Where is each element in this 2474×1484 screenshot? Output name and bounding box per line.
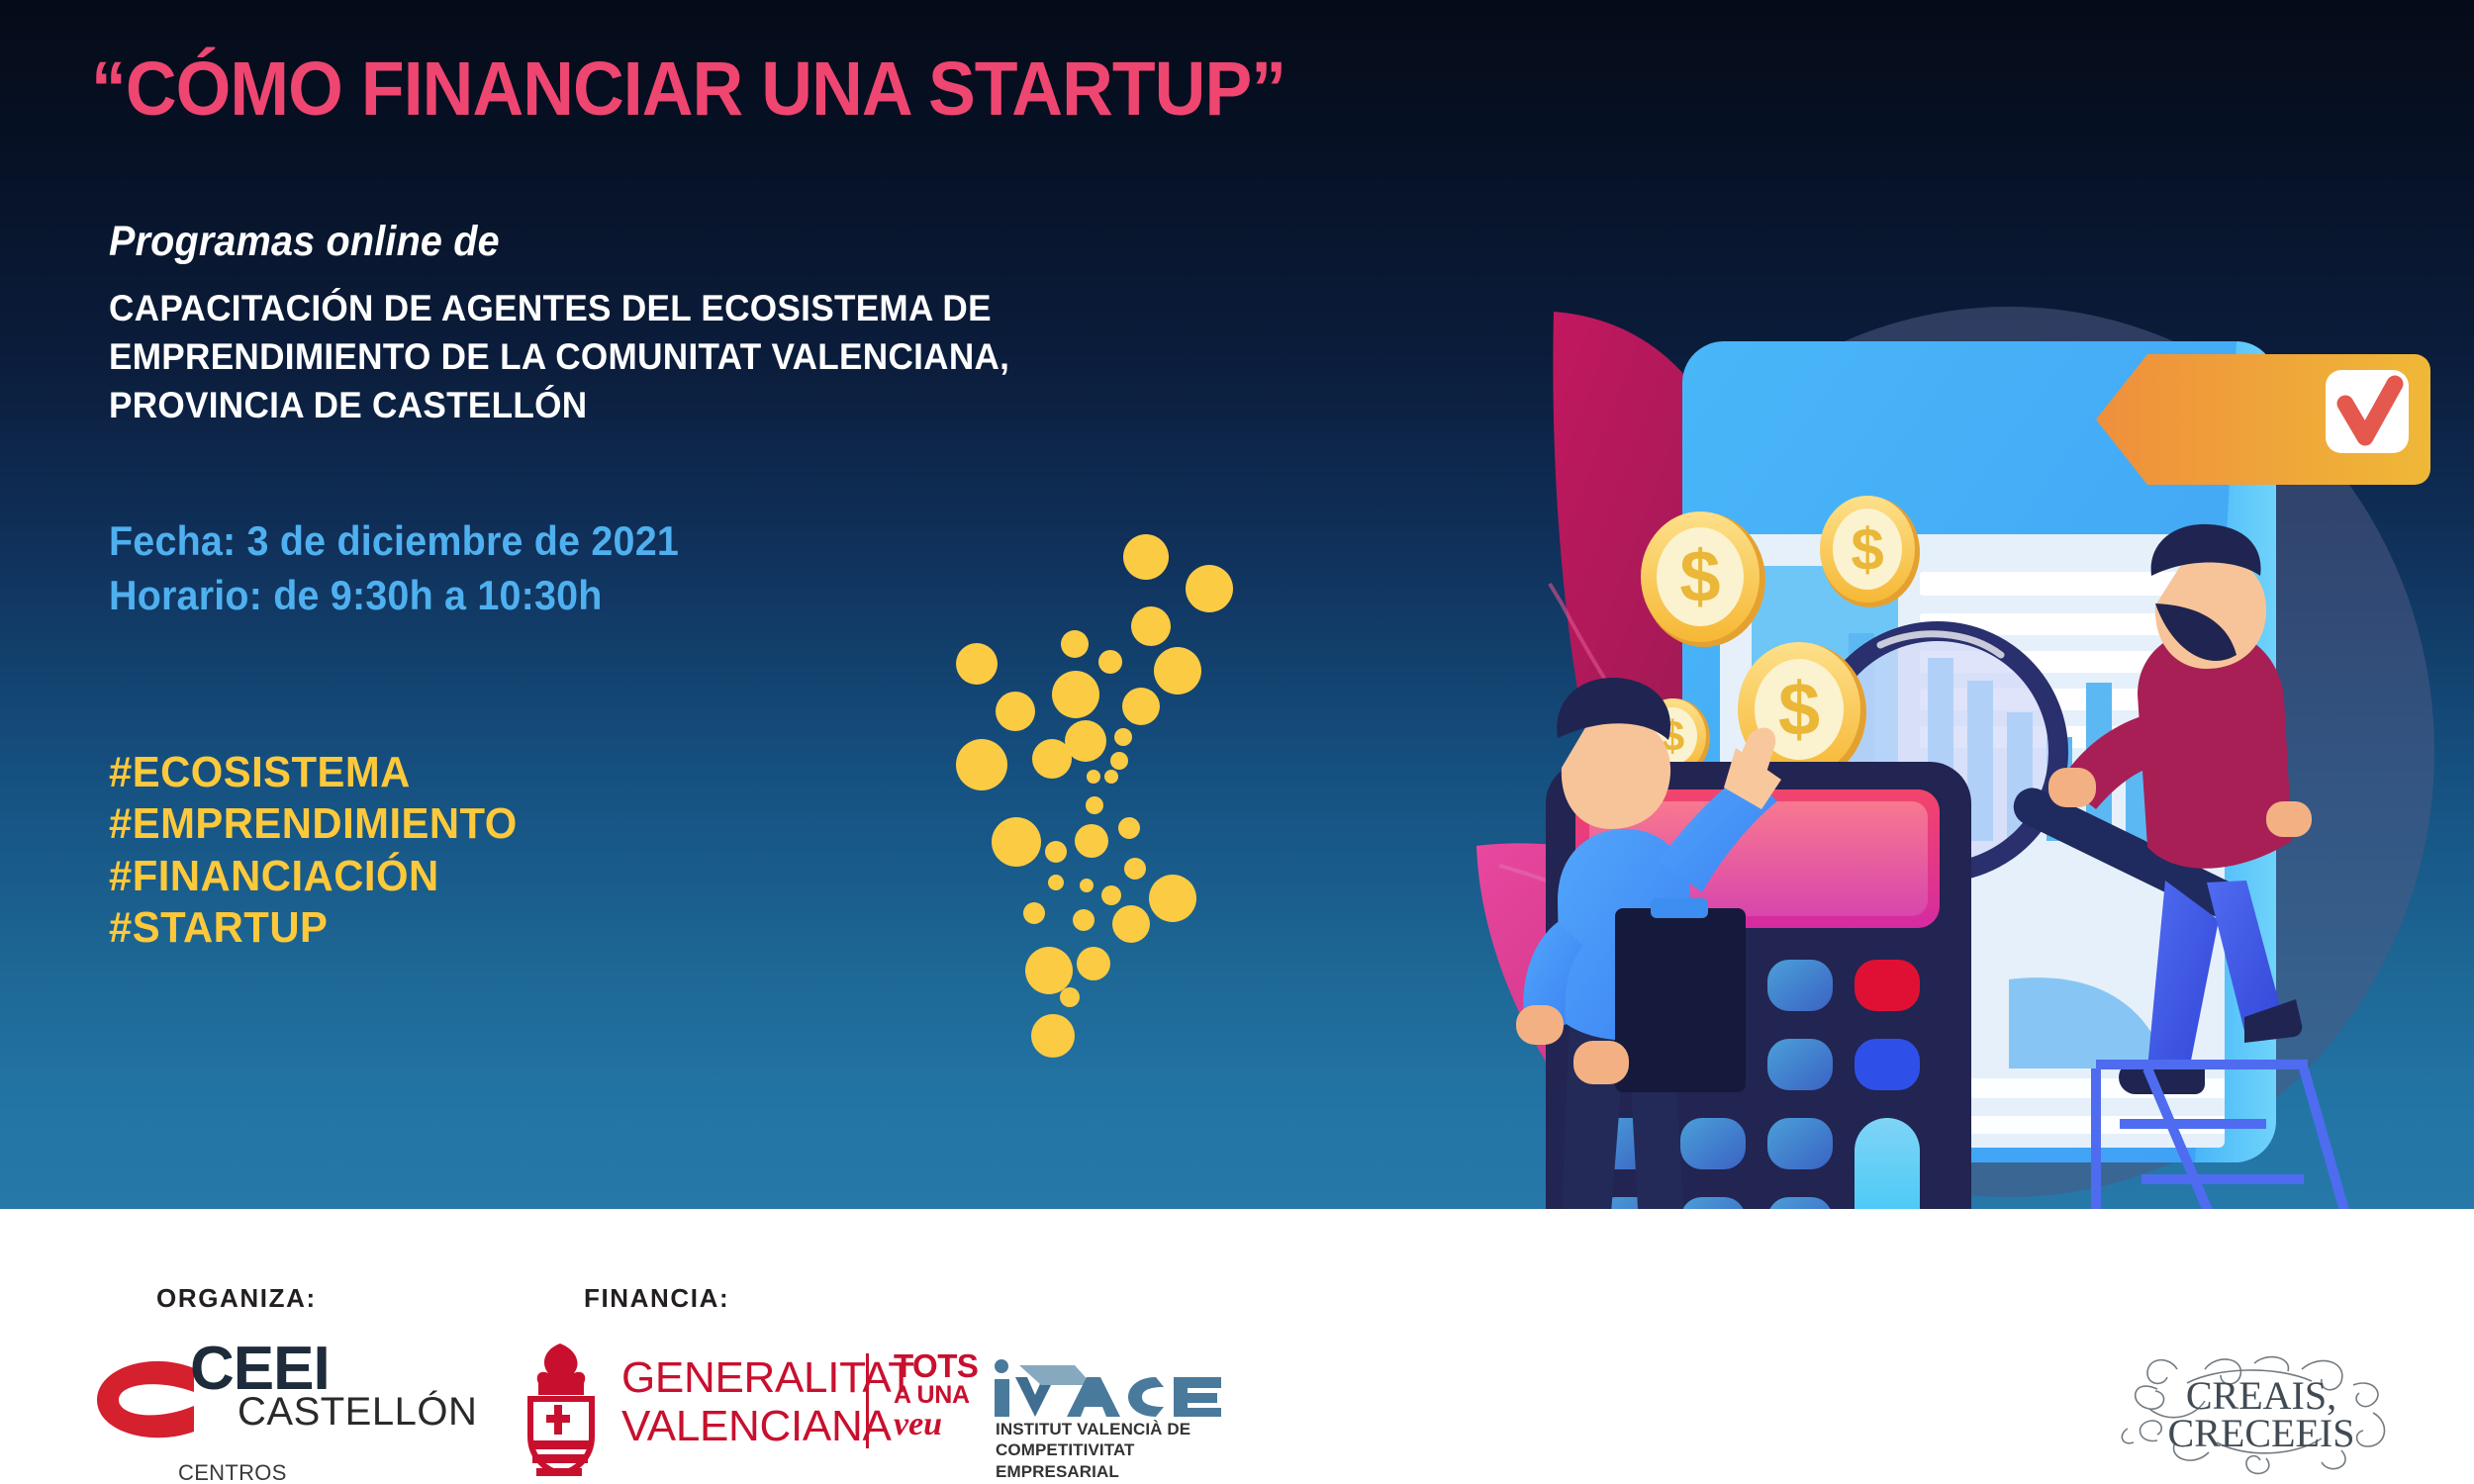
yellow-dot bbox=[1122, 688, 1160, 725]
gva-line-1: GENERALITAT bbox=[621, 1353, 914, 1402]
orange-ribbon-tag bbox=[2096, 354, 2430, 485]
poster: “CÓMO FINANCIAR UNA STARTUP” Programas o… bbox=[0, 0, 2474, 1484]
financial-analysis-illustration: $ $ $ bbox=[1455, 287, 2474, 1209]
hashtag-list: #ECOSISTEMA #EMPRENDIMIENTO #FINANCIACIÓ… bbox=[109, 747, 518, 954]
subtitle-line-2: EMPRENDIMIENTO DE LA COMUNITAT VALENCIAN… bbox=[109, 333, 1009, 382]
gva-slogan-line-2: A UNA bbox=[894, 1383, 978, 1409]
calculator-key-equals bbox=[1855, 1118, 1920, 1209]
hashtag-financiacion: #FINANCIACIÓN bbox=[109, 851, 518, 902]
yellow-dot bbox=[1080, 879, 1094, 892]
gva-shield-icon bbox=[515, 1338, 606, 1476]
creais-line-2: CRECEEIS bbox=[2168, 1411, 2355, 1455]
creais-flourish-icon: CREAIS, CRECEEIS bbox=[2118, 1347, 2405, 1476]
svg-text:$: $ bbox=[1851, 516, 1883, 583]
footer-logos: ORGANIZA: FINANCIA: CEEI CASTELLÓN CENTR… bbox=[0, 1209, 2474, 1484]
yellow-dot bbox=[956, 739, 1007, 790]
ivace-wordmark-icon bbox=[990, 1357, 1223, 1417]
yellow-dot bbox=[992, 817, 1041, 867]
yellow-dot bbox=[1048, 875, 1064, 890]
subtitle-lead: Programas online de bbox=[109, 218, 500, 266]
yellow-dot bbox=[1110, 752, 1128, 770]
hero-panel: “CÓMO FINANCIAR UNA STARTUP” Programas o… bbox=[0, 0, 2474, 1209]
yellow-dot bbox=[1186, 565, 1233, 612]
ceei-place: CASTELLÓN bbox=[238, 1392, 477, 1432]
yellow-dot bbox=[1075, 824, 1108, 858]
yellow-dot bbox=[1073, 909, 1094, 931]
yellow-dot bbox=[1131, 606, 1171, 646]
ivace-tagline-line-1: INSTITUT VALENCIÀ DE bbox=[996, 1419, 1227, 1439]
organiza-label: ORGANIZA: bbox=[156, 1283, 317, 1314]
financia-label: FINANCIA: bbox=[584, 1283, 729, 1314]
yellow-dot bbox=[1023, 902, 1045, 924]
hashtag-startup: #STARTUP bbox=[109, 902, 518, 954]
svg-text:$: $ bbox=[1778, 668, 1820, 752]
creais-creceeis-logo: CREAIS, CRECEEIS bbox=[2118, 1347, 2405, 1476]
yellow-dot bbox=[1104, 770, 1118, 784]
ceei-tagline-line-1: CENTROS EUROPEOS DE bbox=[178, 1459, 368, 1484]
yellow-dot bbox=[1114, 728, 1132, 746]
yellow-dot bbox=[1149, 875, 1196, 922]
calculator-key-blue bbox=[1855, 1039, 1920, 1090]
yellow-dot-cloud bbox=[940, 524, 1277, 1088]
ivace-tagline: INSTITUT VALENCIÀ DE COMPETITIVITAT EMPR… bbox=[996, 1419, 1227, 1482]
event-schedule: Fecha: 3 de diciembre de 2021 Horario: d… bbox=[109, 514, 679, 622]
page-title: “CÓMO FINANCIAR UNA STARTUP” bbox=[91, 51, 1285, 128]
ceei-castellon-logo: CEEI CASTELLÓN CENTROS EUROPEOS DE EMPRE… bbox=[91, 1343, 368, 1461]
yellow-dot bbox=[1077, 947, 1110, 980]
yellow-dot bbox=[1045, 841, 1067, 863]
generalitat-valenciana-logo: GENERALITAT VALENCIANA TOTS A UNA veu bbox=[515, 1338, 990, 1476]
yellow-dot bbox=[1060, 987, 1080, 1007]
yellow-dot bbox=[1061, 630, 1089, 658]
yellow-dot bbox=[1087, 770, 1100, 784]
gva-line-2: VALENCIANA bbox=[621, 1402, 914, 1450]
yellow-dot bbox=[996, 692, 1035, 731]
yellow-dot bbox=[1123, 534, 1169, 580]
ceei-swoosh-icon bbox=[91, 1345, 200, 1455]
yellow-dot bbox=[1112, 905, 1150, 943]
gva-slogan-line-1: TOTS bbox=[894, 1349, 978, 1383]
hashtag-ecosistema: #ECOSISTEMA bbox=[109, 747, 518, 798]
event-date: Fecha: 3 de diciembre de 2021 bbox=[109, 514, 679, 569]
yellow-dot bbox=[1086, 796, 1103, 814]
yellow-dot bbox=[1124, 858, 1146, 880]
subtitle-line-1: CAPACITACIÓN DE AGENTES DEL ECOSISTEMA D… bbox=[109, 285, 1009, 333]
svg-text:$: $ bbox=[1679, 535, 1720, 617]
gva-slogan-line-3: veu bbox=[894, 1408, 978, 1442]
calculator-key-red bbox=[1855, 960, 1920, 1011]
gva-slogan: TOTS A UNA veu bbox=[894, 1349, 978, 1442]
yellow-dot bbox=[956, 643, 998, 685]
subtitle-line-3: PROVINCIA DE CASTELLÓN bbox=[109, 382, 1009, 430]
yellow-dot bbox=[1154, 647, 1201, 695]
yellow-dot bbox=[1101, 885, 1121, 905]
ivace-tagline-line-2: COMPETITIVITAT EMPRESARIAL bbox=[996, 1439, 1227, 1482]
clipboard bbox=[1615, 908, 1746, 1092]
yellow-dot bbox=[1025, 947, 1073, 994]
yellow-dot bbox=[1052, 671, 1099, 718]
ceei-tagline: CENTROS EUROPEOS DE EMPRESAS INNOVADORAS bbox=[178, 1459, 368, 1484]
gva-divider bbox=[866, 1353, 869, 1448]
yellow-dot bbox=[1032, 739, 1072, 779]
gva-wordmark: GENERALITAT VALENCIANA bbox=[621, 1353, 914, 1451]
ivace-logo: INSTITUT VALENCIÀ DE COMPETITIVITAT EMPR… bbox=[990, 1357, 1227, 1476]
subtitle-body: CAPACITACIÓN DE AGENTES DEL ECOSISTEMA D… bbox=[109, 285, 1009, 429]
event-time: Horario: de 9:30h a 10:30h bbox=[109, 569, 679, 623]
yellow-dot bbox=[1098, 650, 1122, 674]
hashtag-emprendimiento: #EMPRENDIMIENTO bbox=[109, 798, 518, 850]
yellow-dot bbox=[1118, 817, 1140, 839]
yellow-dot bbox=[1031, 1014, 1075, 1058]
